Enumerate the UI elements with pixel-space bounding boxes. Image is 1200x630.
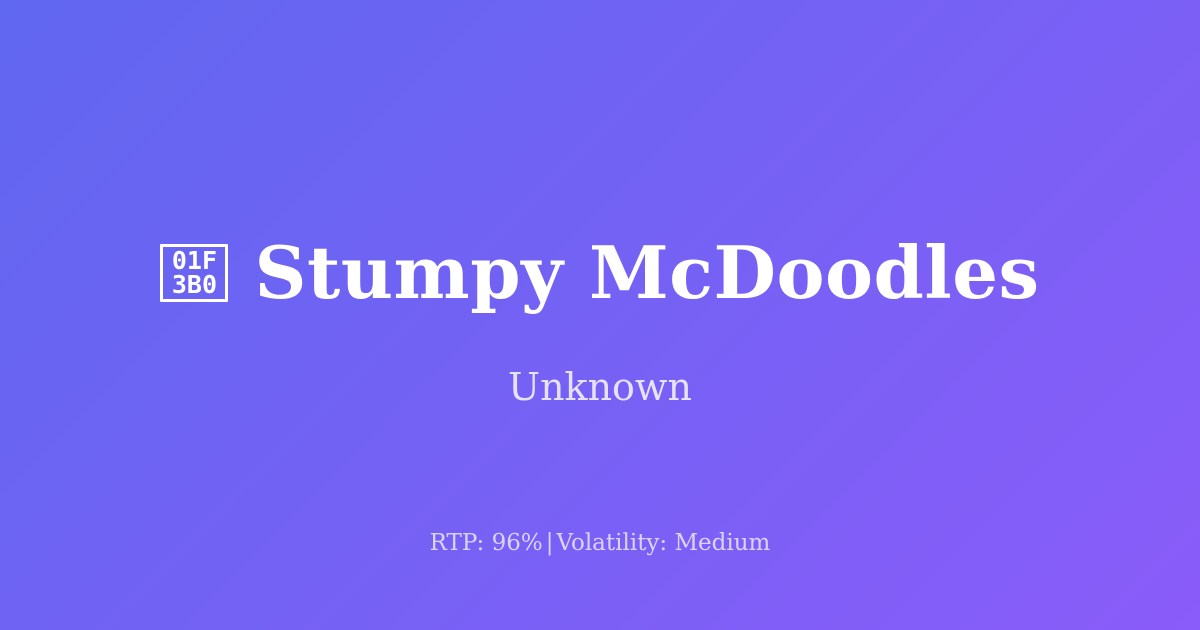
page-title: Stumpy McDoodles (254, 231, 1039, 315)
rtp-stat: RTP: 96% (430, 530, 543, 556)
og-share-card: 01F 3B0 Stumpy McDoodles Unknown RTP: 96… (0, 0, 1200, 630)
slot-machine-icon: 01F 3B0 (160, 244, 228, 302)
stats-separator: | (543, 530, 557, 556)
provider-label: Unknown (0, 362, 1200, 412)
game-stats: RTP: 96%|Volatility: Medium (0, 527, 1200, 559)
title-row: 01F 3B0 Stumpy McDoodles (0, 231, 1200, 315)
volatility-stat: Volatility: Medium (556, 530, 770, 556)
tofu-codepoint-bottom: 3B0 (172, 273, 217, 297)
